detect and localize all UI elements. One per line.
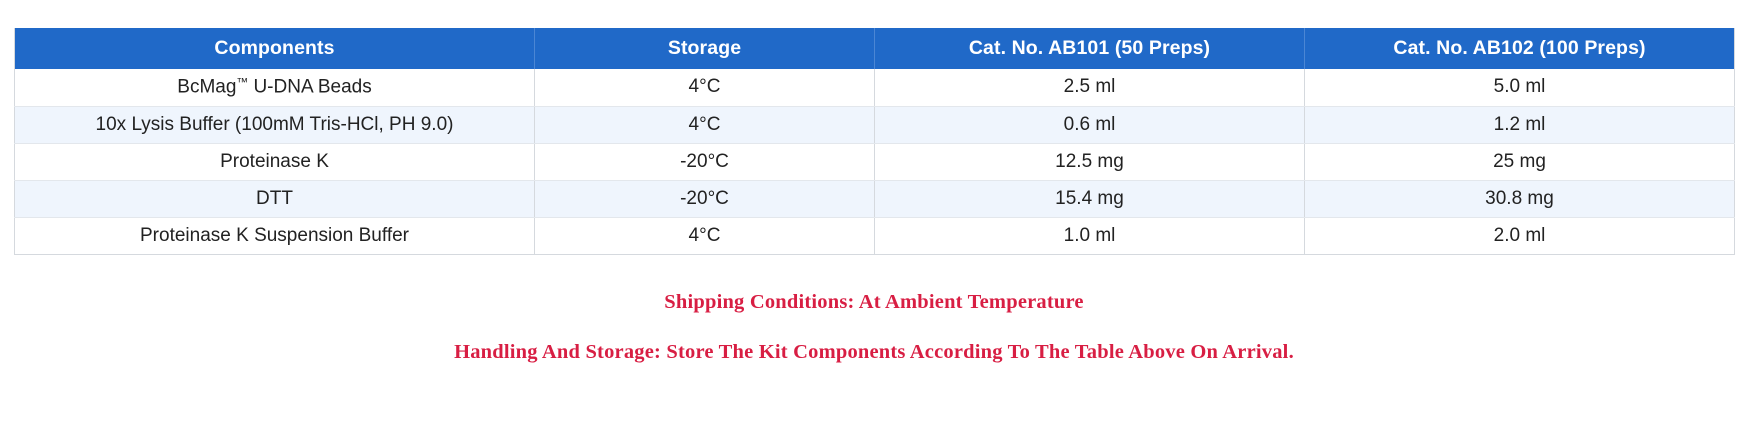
cell-ab101: 1.0 ml: [875, 218, 1305, 255]
component-name-base: BcMag: [177, 77, 236, 98]
cell-ab102: 30.8 mg: [1305, 181, 1735, 218]
cell-ab101: 0.6 ml: [875, 106, 1305, 143]
cell-ab102: 25 mg: [1305, 143, 1735, 180]
cell-storage: 4°C: [535, 106, 875, 143]
table-row: Proteinase K Suspension Buffer 4°C 1.0 m…: [15, 218, 1735, 255]
cell-component: Proteinase K Suspension Buffer: [15, 218, 535, 255]
table-body: BcMag™ U-DNA Beads 4°C 2.5 ml 5.0 ml 10x…: [15, 69, 1735, 255]
cell-ab102: 5.0 ml: [1305, 69, 1735, 106]
cell-ab102: 1.2 ml: [1305, 106, 1735, 143]
component-name-rest: U-DNA Beads: [248, 77, 372, 98]
cell-ab101: 15.4 mg: [875, 181, 1305, 218]
cell-ab101: 2.5 ml: [875, 69, 1305, 106]
trademark-symbol: ™: [236, 76, 248, 89]
cell-component: 10x Lysis Buffer (100mM Tris-HCl, PH 9.0…: [15, 106, 535, 143]
cell-ab102: 2.0 ml: [1305, 218, 1735, 255]
cell-component: Proteinase K: [15, 143, 535, 180]
column-header-storage: Storage: [535, 28, 875, 69]
cell-storage: -20°C: [535, 143, 875, 180]
table-header-row: Components Storage Cat. No. AB101 (50 Pr…: [15, 28, 1735, 69]
cell-component: BcMag™ U-DNA Beads: [15, 69, 535, 106]
cell-storage: -20°C: [535, 181, 875, 218]
cell-storage: 4°C: [535, 218, 875, 255]
table-row: DTT -20°C 15.4 mg 30.8 mg: [15, 181, 1735, 218]
cell-storage: 4°C: [535, 69, 875, 106]
column-header-ab102: Cat. No. AB102 (100 Preps): [1305, 28, 1735, 69]
shipping-conditions-note: Shipping Conditions: At Ambient Temperat…: [14, 291, 1734, 314]
cell-ab101: 12.5 mg: [875, 143, 1305, 180]
table-header: Components Storage Cat. No. AB101 (50 Pr…: [15, 28, 1735, 69]
kit-components-page: Components Storage Cat. No. AB101 (50 Pr…: [0, 0, 1748, 425]
cell-component: DTT: [15, 181, 535, 218]
table-row: Proteinase K -20°C 12.5 mg 25 mg: [15, 143, 1735, 180]
table-row: BcMag™ U-DNA Beads 4°C 2.5 ml 5.0 ml: [15, 69, 1735, 106]
handling-storage-note: Handling And Storage: Store The Kit Comp…: [14, 341, 1734, 364]
column-header-components: Components: [15, 28, 535, 69]
column-header-ab101: Cat. No. AB101 (50 Preps): [875, 28, 1305, 69]
kit-components-table: Components Storage Cat. No. AB101 (50 Pr…: [14, 28, 1735, 255]
table-row: 10x Lysis Buffer (100mM Tris-HCl, PH 9.0…: [15, 106, 1735, 143]
